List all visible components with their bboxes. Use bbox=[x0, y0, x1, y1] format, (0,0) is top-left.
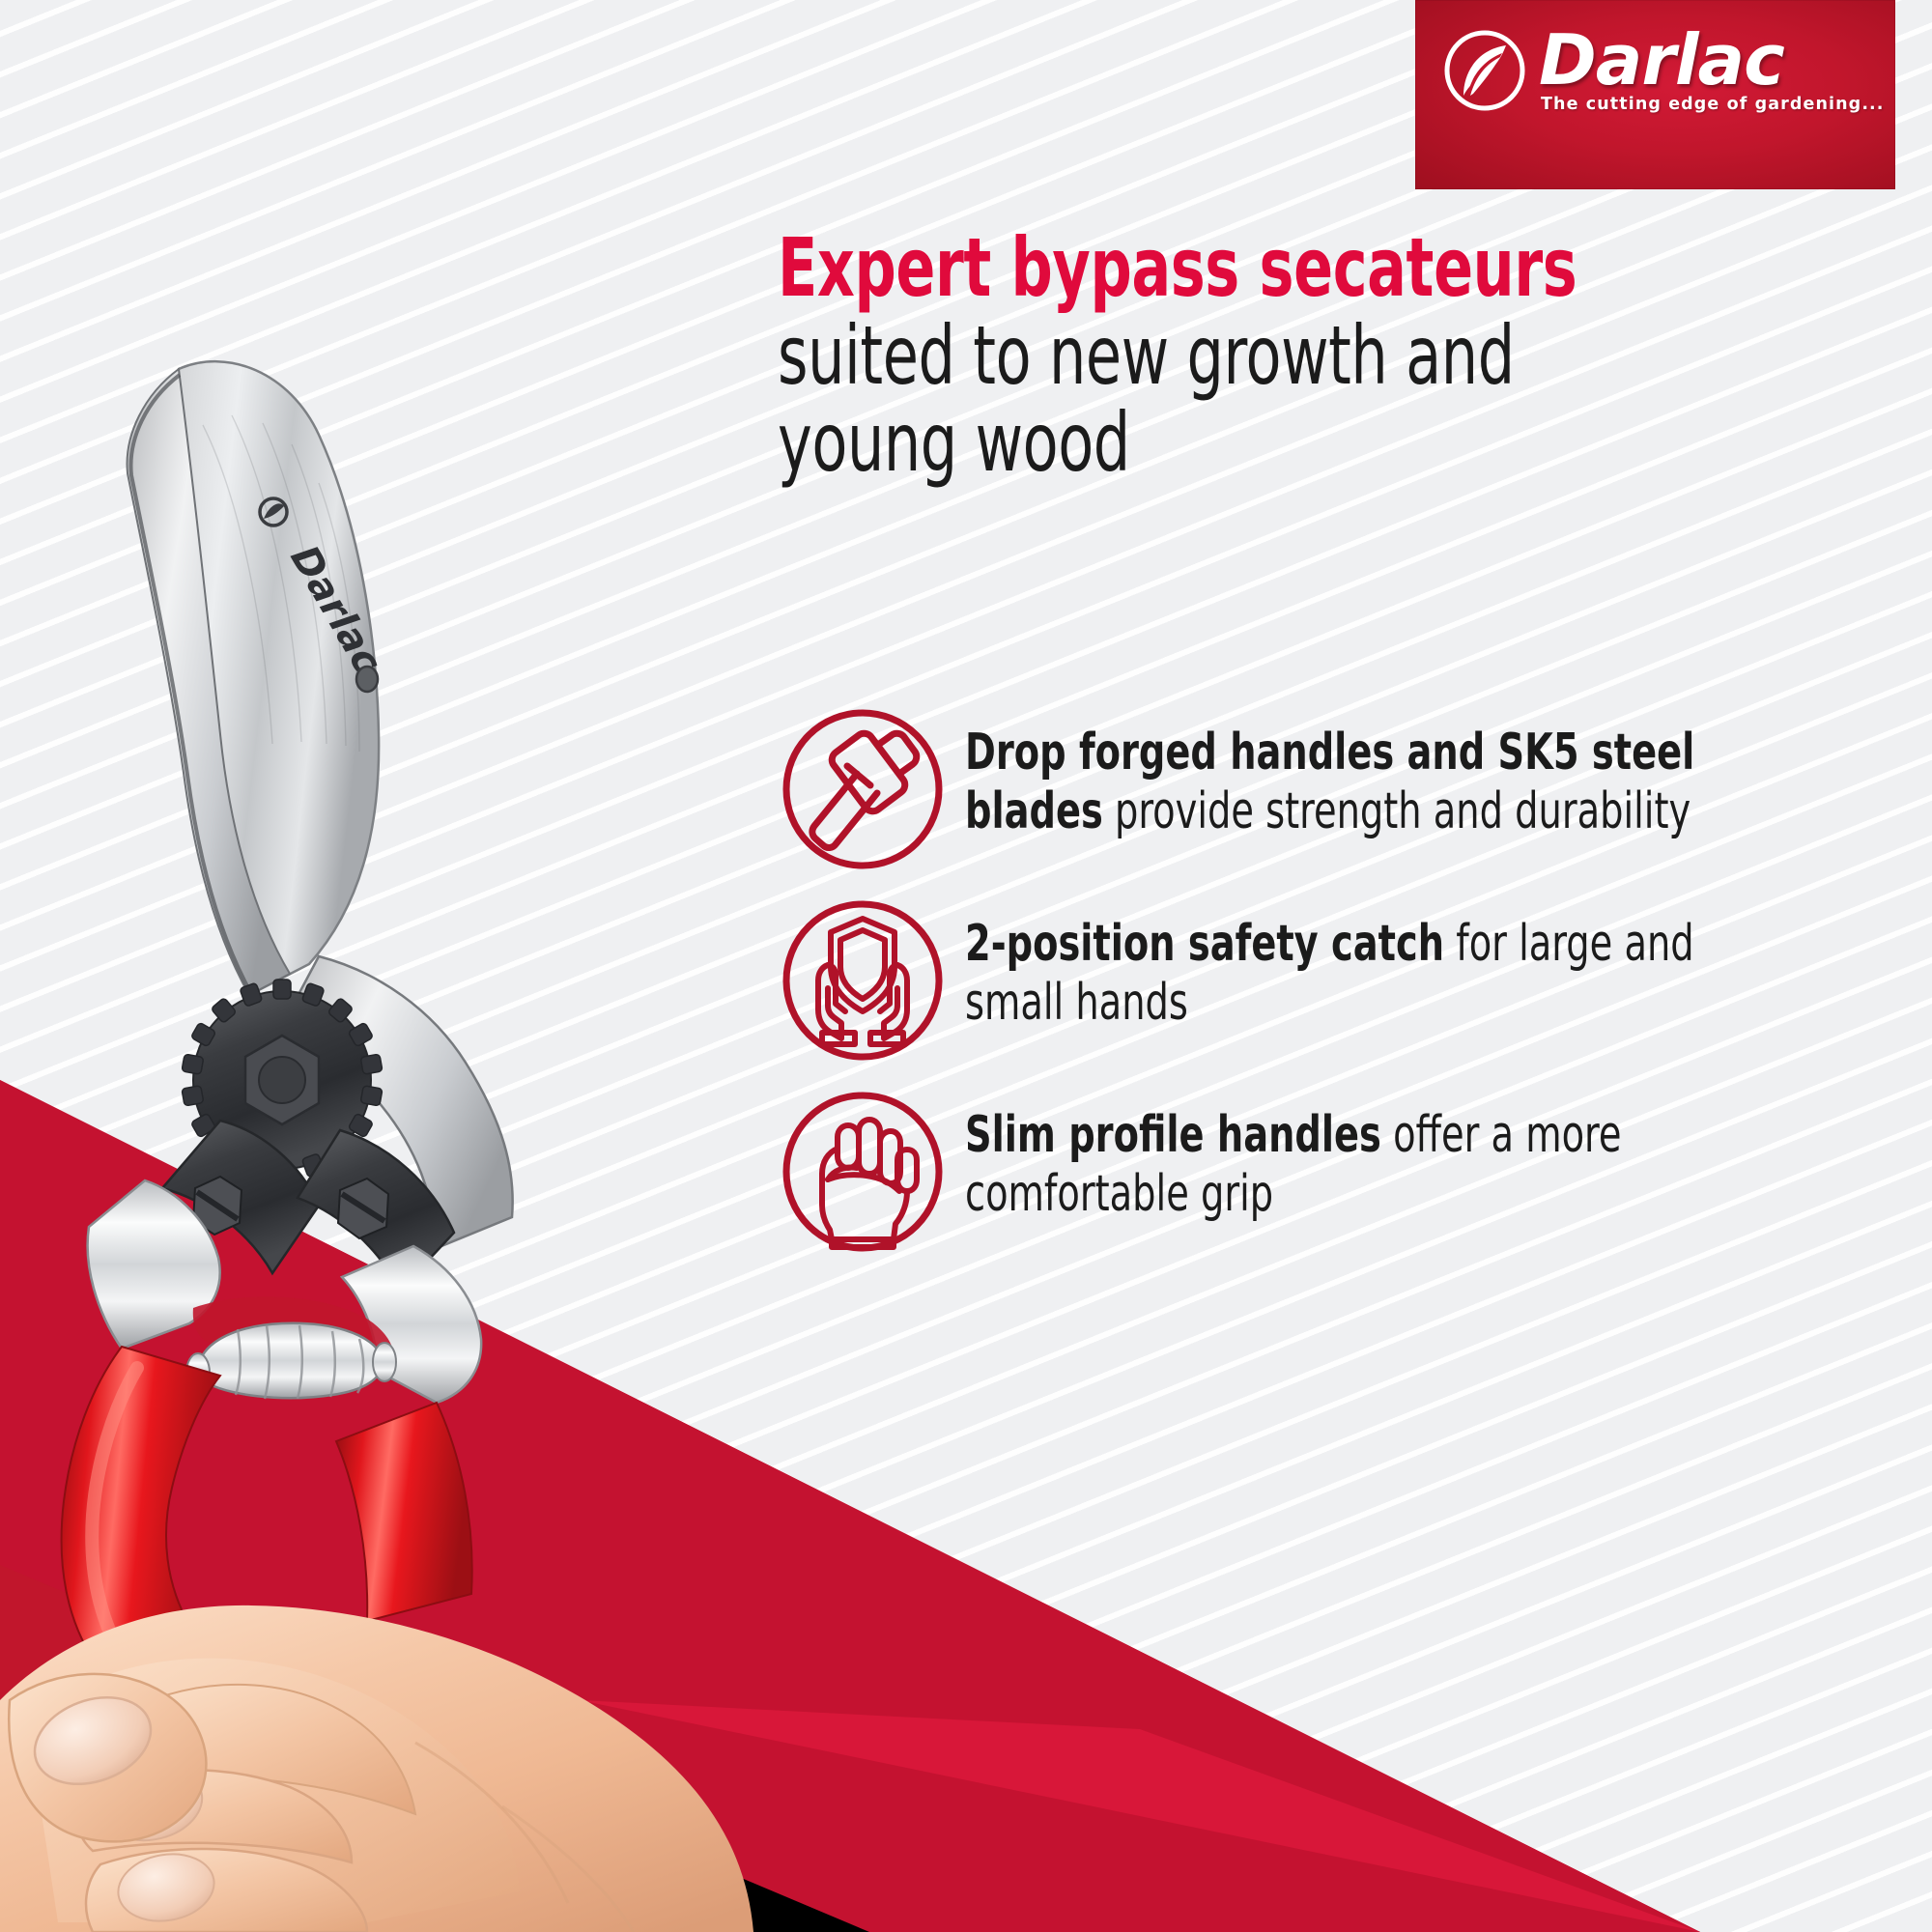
shield-in-hands-icon bbox=[778, 895, 948, 1065]
right-red-handle bbox=[336, 1403, 472, 1621]
headline-line-2: suited to new growth and bbox=[778, 312, 1674, 400]
promo-canvas: Darlac bbox=[0, 0, 1932, 1932]
feature-rest-1: provide strength and durability bbox=[1103, 782, 1690, 840]
hand-gripping-handle bbox=[0, 1605, 753, 1932]
feature-bold-3: Slim profile handles bbox=[965, 1106, 1381, 1164]
darlac-logo[interactable]: Darlac The cutting edge of gardening... bbox=[1415, 0, 1895, 189]
feature-item-safety-catch: 2-position safety catch for large and sm… bbox=[778, 901, 1918, 1065]
feature-item-slim-handles: Slim profile handles offer a more comfor… bbox=[778, 1093, 1918, 1257]
headline-emphasis: Expert bypass secateurs bbox=[778, 224, 1674, 312]
page-title: Expert bypass secateurs suited to new gr… bbox=[778, 224, 1898, 487]
leaf-circle-icon bbox=[1442, 28, 1527, 113]
feature-bold-2: 2-position safety catch bbox=[965, 915, 1444, 973]
headline-line-3: young wood bbox=[778, 399, 1674, 487]
feature-text-drop-forged: Drop forged handles and SK5 steel blades… bbox=[965, 710, 1747, 842]
feature-text-slim-handles: Slim profile handles offer a more comfor… bbox=[965, 1093, 1747, 1225]
logo-tagline: The cutting edge of gardening... bbox=[1541, 95, 1885, 114]
feature-list: Drop forged handles and SK5 steel blades… bbox=[778, 710, 1918, 1284]
logo-wordmark: Darlac bbox=[1539, 27, 1885, 93]
feature-text-safety-catch: 2-position safety catch for large and sm… bbox=[965, 901, 1747, 1034]
hammer-icon bbox=[778, 704, 948, 874]
feature-item-drop-forged: Drop forged handles and SK5 steel blades… bbox=[778, 710, 1918, 874]
fist-grip-icon bbox=[778, 1087, 948, 1257]
product-secateurs-image: Darlac bbox=[0, 319, 753, 1932]
